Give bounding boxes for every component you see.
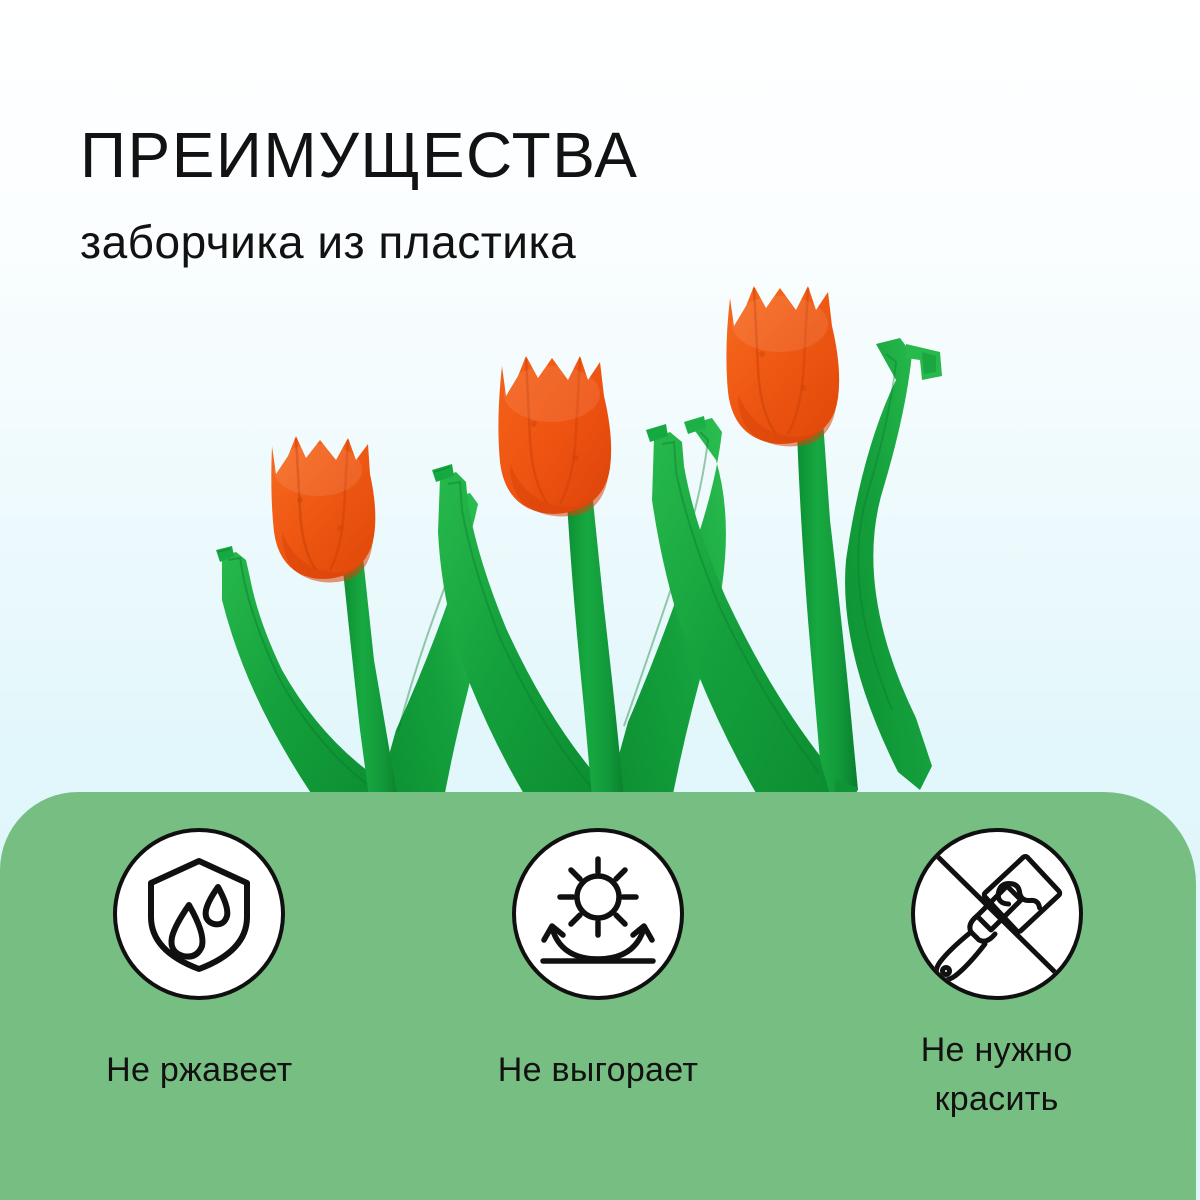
tulip-fence-illustration: [0, 260, 1200, 820]
benefit-labels-row: Не ржавеет Не выгорает Не нужно красить: [0, 1040, 1196, 1139]
benefit-label-no-rust: Не ржавеет: [34, 1046, 364, 1095]
benefit-icon-circle-2: [512, 828, 684, 1000]
tulip-3: [646, 286, 942, 820]
benefit-item-no-fade: [433, 828, 763, 1000]
benefit-icon-circle-3: [911, 828, 1083, 1000]
benefit-icons-row: [0, 828, 1196, 1028]
benefit-label-no-paint-line1: Не нужно: [832, 1026, 1162, 1075]
header: ПРЕИМУЩЕСТВА заборчика из пластика: [80, 122, 980, 268]
poster-canvas: ПРЕИМУЩЕСТВА заборчика из пластика: [0, 0, 1200, 1200]
tulip-head-3: [726, 286, 839, 446]
shield-water-drop-icon: [141, 853, 257, 975]
no-paint-brush-icon: [915, 832, 1079, 996]
benefits-panel: Не ржавеет Не выгорает Не нужно красить: [0, 792, 1196, 1200]
benefit-item-no-paint: [832, 828, 1162, 1000]
benefit-item-no-rust: [34, 828, 364, 1000]
benefit-label-no-paint: Не нужно красить: [832, 1026, 1162, 1125]
sun-uv-reflect-icon: [535, 855, 661, 973]
benefit-label-no-fade: Не выгорает: [433, 1046, 763, 1095]
product-photo: [0, 260, 1200, 820]
tulip-head-2: [498, 356, 611, 516]
page-title: ПРЕИМУЩЕСТВА: [80, 122, 980, 189]
tulip-head-1: [271, 436, 375, 582]
benefit-icon-circle-1: [113, 828, 285, 1000]
benefit-label-no-paint-line2: красить: [832, 1075, 1162, 1124]
